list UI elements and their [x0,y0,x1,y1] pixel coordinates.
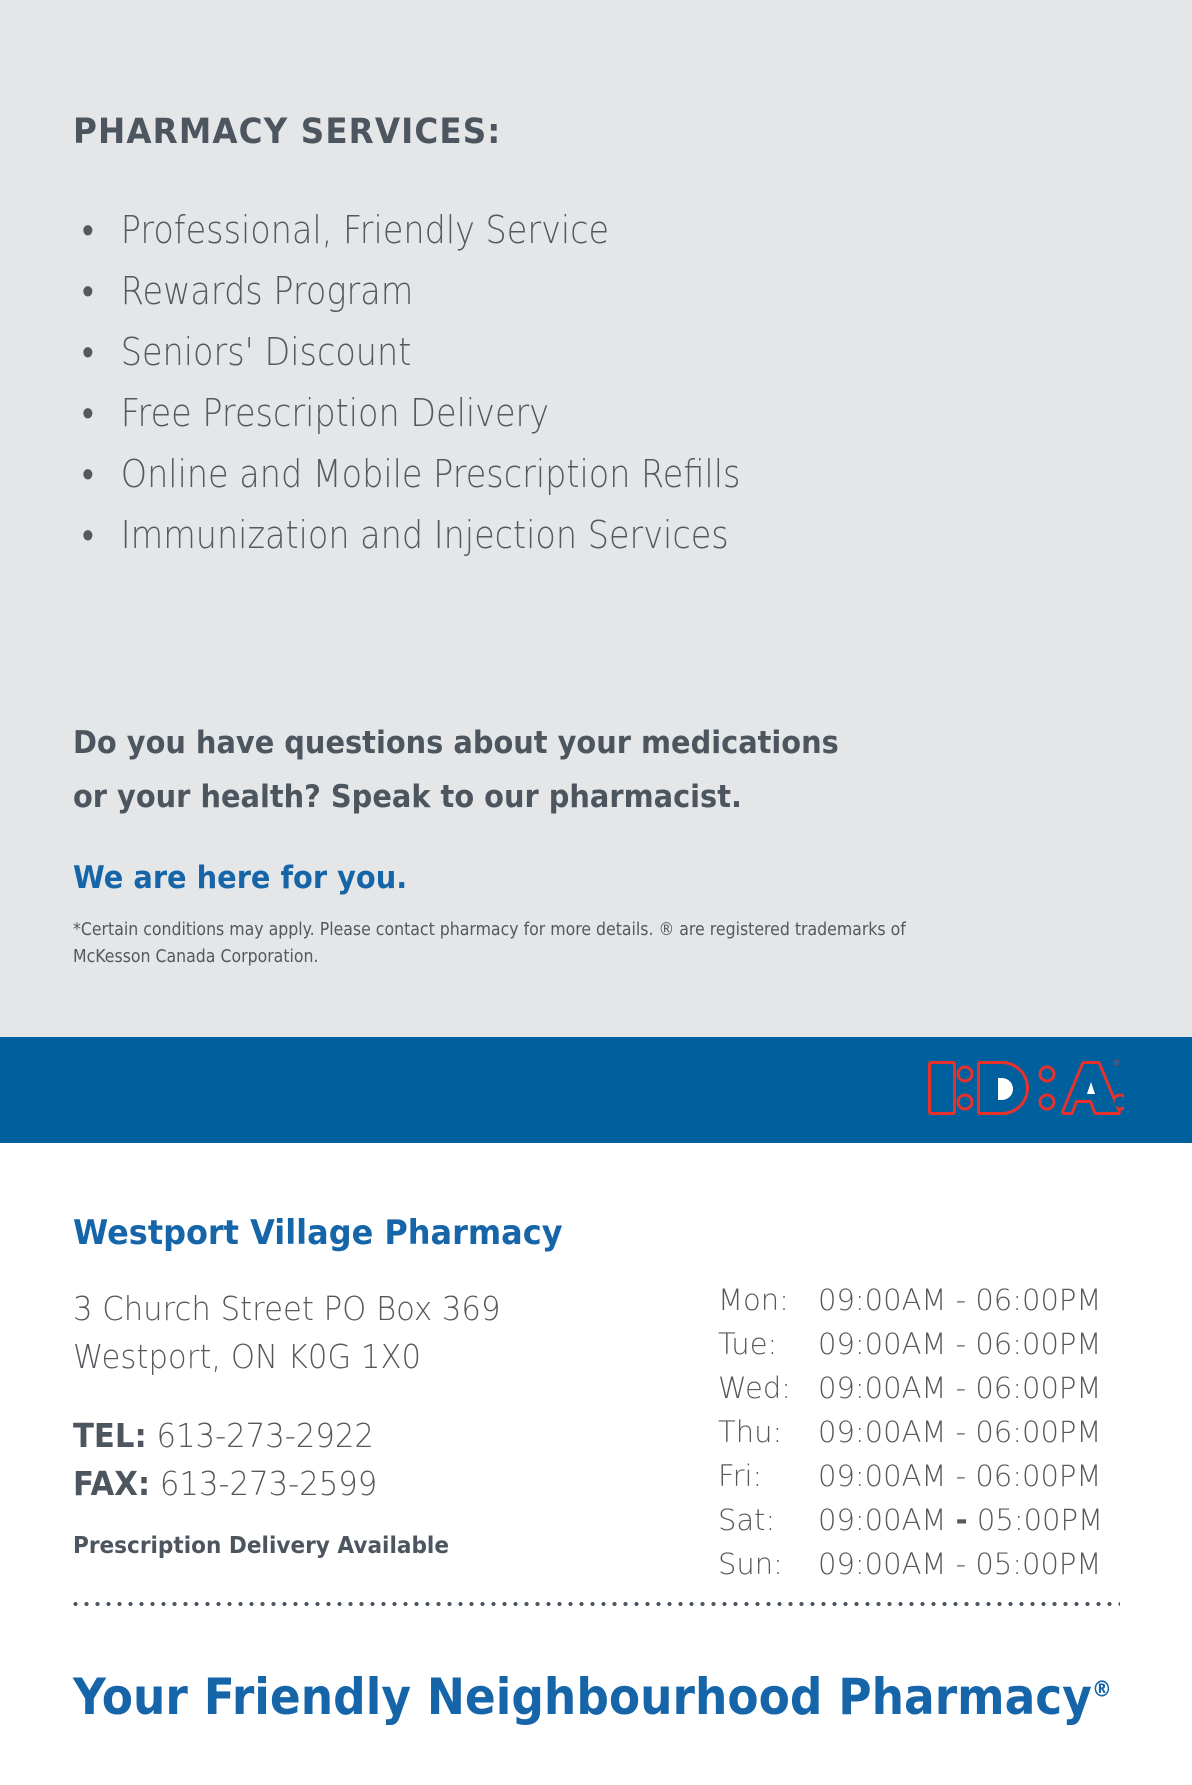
bullet-icon: • [82,444,94,505]
hours-row: Sun: 09:00AM - 05:00PM [718,1542,1118,1586]
hours-time: 09:00AM - 06:00PM [818,1366,1118,1410]
hours-row: Wed: 09:00AM - 06:00PM [718,1366,1118,1410]
hours-day: Sat: [718,1498,818,1542]
list-item: • Online and Mobile Prescription Refills [75,444,955,505]
list-item: • Immunization and Injection Services [75,505,955,566]
list-item-label: Immunization and Injection Services [121,513,729,557]
address-line-1: 3 Church Street PO Box 369 [73,1285,500,1333]
list-item: • Professional, Friendly Service [75,200,955,261]
address-line-2: Westport, ON K0G 1X0 [73,1333,500,1381]
disclaimer-line-2: McKesson Canada Corporation. [73,944,973,971]
highlight-statement: We are here for you. [73,860,407,896]
pharmacist-question: Do you have questions about your medicat… [73,716,966,824]
list-item: • Seniors' Discount [75,322,955,383]
hours-time: 09:00AM - 05:00PM [818,1542,1118,1586]
hours-time: 09:00AM - 06:00PM [818,1322,1118,1366]
store-hours: Mon: 09:00AM - 06:00PM Tue: 09:00AM - 06… [718,1278,1118,1586]
hours-row: Tue: 09:00AM - 06:00PM [718,1322,1118,1366]
hours-time: 09:00AM - 06:00PM [818,1278,1118,1322]
store-contact: TEL: 613-273-2922 FAX: 613-273-2599 [73,1412,377,1508]
list-item-label: Seniors' Discount [121,330,412,374]
fax-label: FAX: [73,1464,150,1503]
page-title: PHARMACY SERVICES: [73,112,501,152]
hours-day: Thu: [718,1410,818,1454]
dotted-divider [70,1600,1120,1608]
hours-day: Wed: [718,1366,818,1410]
disclaimer-line-1: *Certain conditions may apply. Please co… [73,917,973,944]
registered-mark: ® [1092,1677,1112,1702]
hours-day: Tue: [718,1322,818,1366]
bullet-icon: • [82,505,94,566]
hours-time: 09:00AM - 05:00PM [818,1498,1118,1542]
question-line-2: or your health? Speak to our pharmacist. [73,770,966,824]
bullet-icon: • [82,261,94,322]
store-name: Westport Village Pharmacy [73,1213,563,1253]
telephone-label: TEL: [73,1416,147,1455]
list-item-label: Online and Mobile Prescription Refills [121,452,741,496]
services-list: • Professional, Friendly Service • Rewar… [75,200,1075,566]
telephone-row: TEL: 613-273-2922 [73,1412,377,1460]
tagline-text: Your Friendly Neighbourhood Pharmacy [73,1668,1092,1726]
delivery-note: Prescription Delivery Available [73,1533,449,1559]
list-item-label: Rewards Program [121,269,414,313]
hours-row: Mon: 09:00AM - 06:00PM [718,1278,1118,1322]
hours-day: Mon: [718,1278,818,1322]
list-item-label: Free Prescription Delivery [121,391,549,435]
fax-value: 613-273-2599 [160,1464,377,1503]
services-panel: PHARMACY SERVICES: • Professional, Frien… [0,0,1192,1037]
bullet-icon: • [82,383,94,444]
hours-day: Fri: [718,1454,818,1498]
fax-row: FAX: 613-273-2599 [73,1460,377,1508]
svg-text:®: ® [1112,1059,1121,1069]
list-item: • Rewards Program [75,261,955,322]
ida-logo: ® [924,1052,1124,1124]
hours-row: Thu: 09:00AM - 06:00PM [718,1410,1118,1454]
disclaimer-text: *Certain conditions may apply. Please co… [73,917,973,971]
bullet-icon: • [82,200,94,261]
telephone-value[interactable]: 613-273-2922 [156,1416,373,1455]
hours-row: Sat: 09:00AM - 05:00PM [718,1498,1118,1542]
hours-time: 09:00AM - 06:00PM [818,1454,1118,1498]
tagline: Your Friendly Neighbourhood Pharmacy® [73,1668,1112,1726]
bullet-icon: • [82,322,94,383]
hours-time: 09:00AM - 06:00PM [818,1410,1118,1454]
hours-day: Sun: [718,1542,818,1586]
list-item: • Free Prescription Delivery [75,383,955,444]
list-item-label: Professional, Friendly Service [121,208,609,252]
store-address: 3 Church Street PO Box 369 Westport, ON … [73,1285,500,1381]
hours-row: Fri: 09:00AM - 06:00PM [718,1454,1118,1498]
question-line-1: Do you have questions about your medicat… [73,716,966,770]
